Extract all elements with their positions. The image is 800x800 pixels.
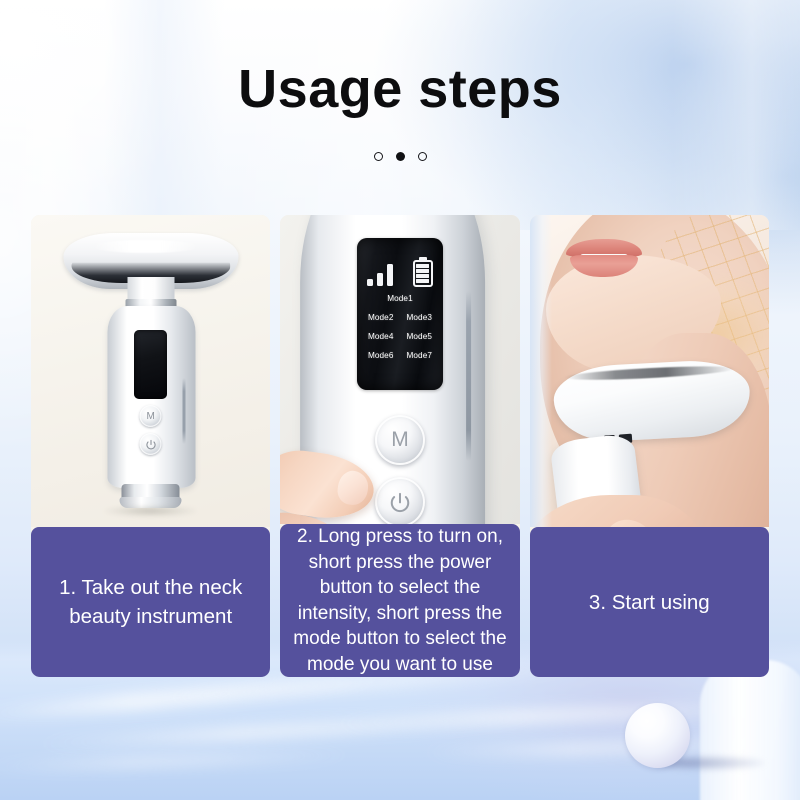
step-2-caption: 2. Long press to turn on, short press th…	[280, 524, 519, 677]
caption-line: mode you want to use	[293, 652, 506, 678]
mode-row: Mode4 Mode5	[362, 332, 438, 341]
step-card-1[interactable]: M 1. Take out the	[31, 215, 270, 677]
device-head-highlight	[91, 240, 199, 253]
device-body-slot	[182, 378, 185, 444]
power-button[interactable]	[375, 477, 425, 524]
device-side-slot	[466, 291, 471, 461]
step-3-caption-text: 3. Start using	[589, 588, 710, 617]
caption-line: beauty instrument	[59, 602, 242, 631]
step-1-scene: M	[31, 215, 270, 527]
device-display-screen	[134, 330, 167, 399]
step-3-photo	[530, 215, 769, 527]
step-3-caption: 3. Start using	[530, 527, 769, 677]
product-infographic-page: Usage steps	[0, 0, 800, 800]
battery-segment	[416, 279, 429, 283]
power-icon	[145, 439, 156, 450]
step-2-caption-text: 2. Long press to turn on, short press th…	[293, 524, 506, 677]
decorative-sphere	[625, 703, 690, 768]
caption-line: 3. Start using	[589, 588, 710, 617]
mode-label: Mode4	[368, 332, 394, 341]
step-2-photo: Mode1 Mode2 Mode3 Mode4 Mode5	[280, 215, 519, 524]
lower-lip	[570, 255, 638, 277]
mode-label: Mode7	[406, 351, 432, 360]
step-card-2[interactable]: Mode1 Mode2 Mode3 Mode4 Mode5	[280, 215, 519, 677]
mode-label: Mode6	[368, 351, 394, 360]
header: Usage steps	[0, 0, 800, 200]
device-shadow	[105, 505, 197, 517]
battery-segment	[416, 264, 429, 268]
photo-left-edge-fade	[530, 215, 552, 527]
mode-button[interactable]: M	[375, 415, 425, 465]
power-button[interactable]	[140, 433, 162, 455]
mode-row: Mode1	[362, 294, 438, 303]
mode-button[interactable]: M	[140, 405, 162, 427]
intensity-bar	[367, 279, 373, 286]
caption-line: 1. Take out the neck	[59, 573, 242, 602]
page-title: Usage steps	[0, 58, 800, 120]
step-1-photo: M	[31, 215, 270, 527]
intensity-bar	[377, 273, 383, 286]
step-card-3[interactable]: 3. Start using	[530, 215, 769, 677]
mode-row: Mode6 Mode7	[362, 351, 438, 360]
mode-label: Mode2	[368, 313, 394, 322]
steps-card-row: M 1. Take out the	[31, 215, 769, 677]
device-display-screen: Mode1 Mode2 Mode3 Mode4 Mode5	[357, 238, 443, 390]
mode-label-list: Mode1 Mode2 Mode3 Mode4 Mode5	[357, 294, 443, 370]
power-icon	[389, 491, 411, 513]
step-3-scene	[530, 215, 769, 527]
caption-line: short press the power	[293, 550, 506, 576]
caption-line: intensity, short press the	[293, 601, 506, 627]
caption-line: button to select the	[293, 575, 506, 601]
carousel-pagination[interactable]	[0, 152, 800, 161]
step-1-caption-text: 1. Take out the neck beauty instrument	[59, 573, 242, 631]
model-lips	[566, 239, 642, 279]
pagination-dot-2-active[interactable]	[396, 152, 405, 161]
intensity-bar	[387, 264, 393, 286]
step-2-scene: Mode1 Mode2 Mode3 Mode4 Mode5	[280, 215, 519, 524]
battery-icon	[413, 260, 433, 287]
caption-line: mode button to select the	[293, 626, 506, 652]
fingernail	[336, 469, 370, 507]
battery-segment	[416, 274, 429, 278]
intensity-level-icon	[367, 262, 393, 286]
caption-line: 2. Long press to turn on,	[293, 524, 506, 550]
pagination-dot-1[interactable]	[374, 152, 383, 161]
background-cylinder-prop	[700, 660, 800, 800]
mode-label: Mode3	[406, 313, 432, 322]
mode-label: Mode1	[387, 294, 413, 303]
mode-label: Mode5	[406, 332, 432, 341]
step-1-caption: 1. Take out the neck beauty instrument	[31, 527, 270, 677]
neck-beauty-device: M	[63, 233, 238, 513]
pagination-dot-3[interactable]	[418, 152, 427, 161]
mode-row: Mode2 Mode3	[362, 313, 438, 322]
battery-segment	[416, 269, 429, 273]
